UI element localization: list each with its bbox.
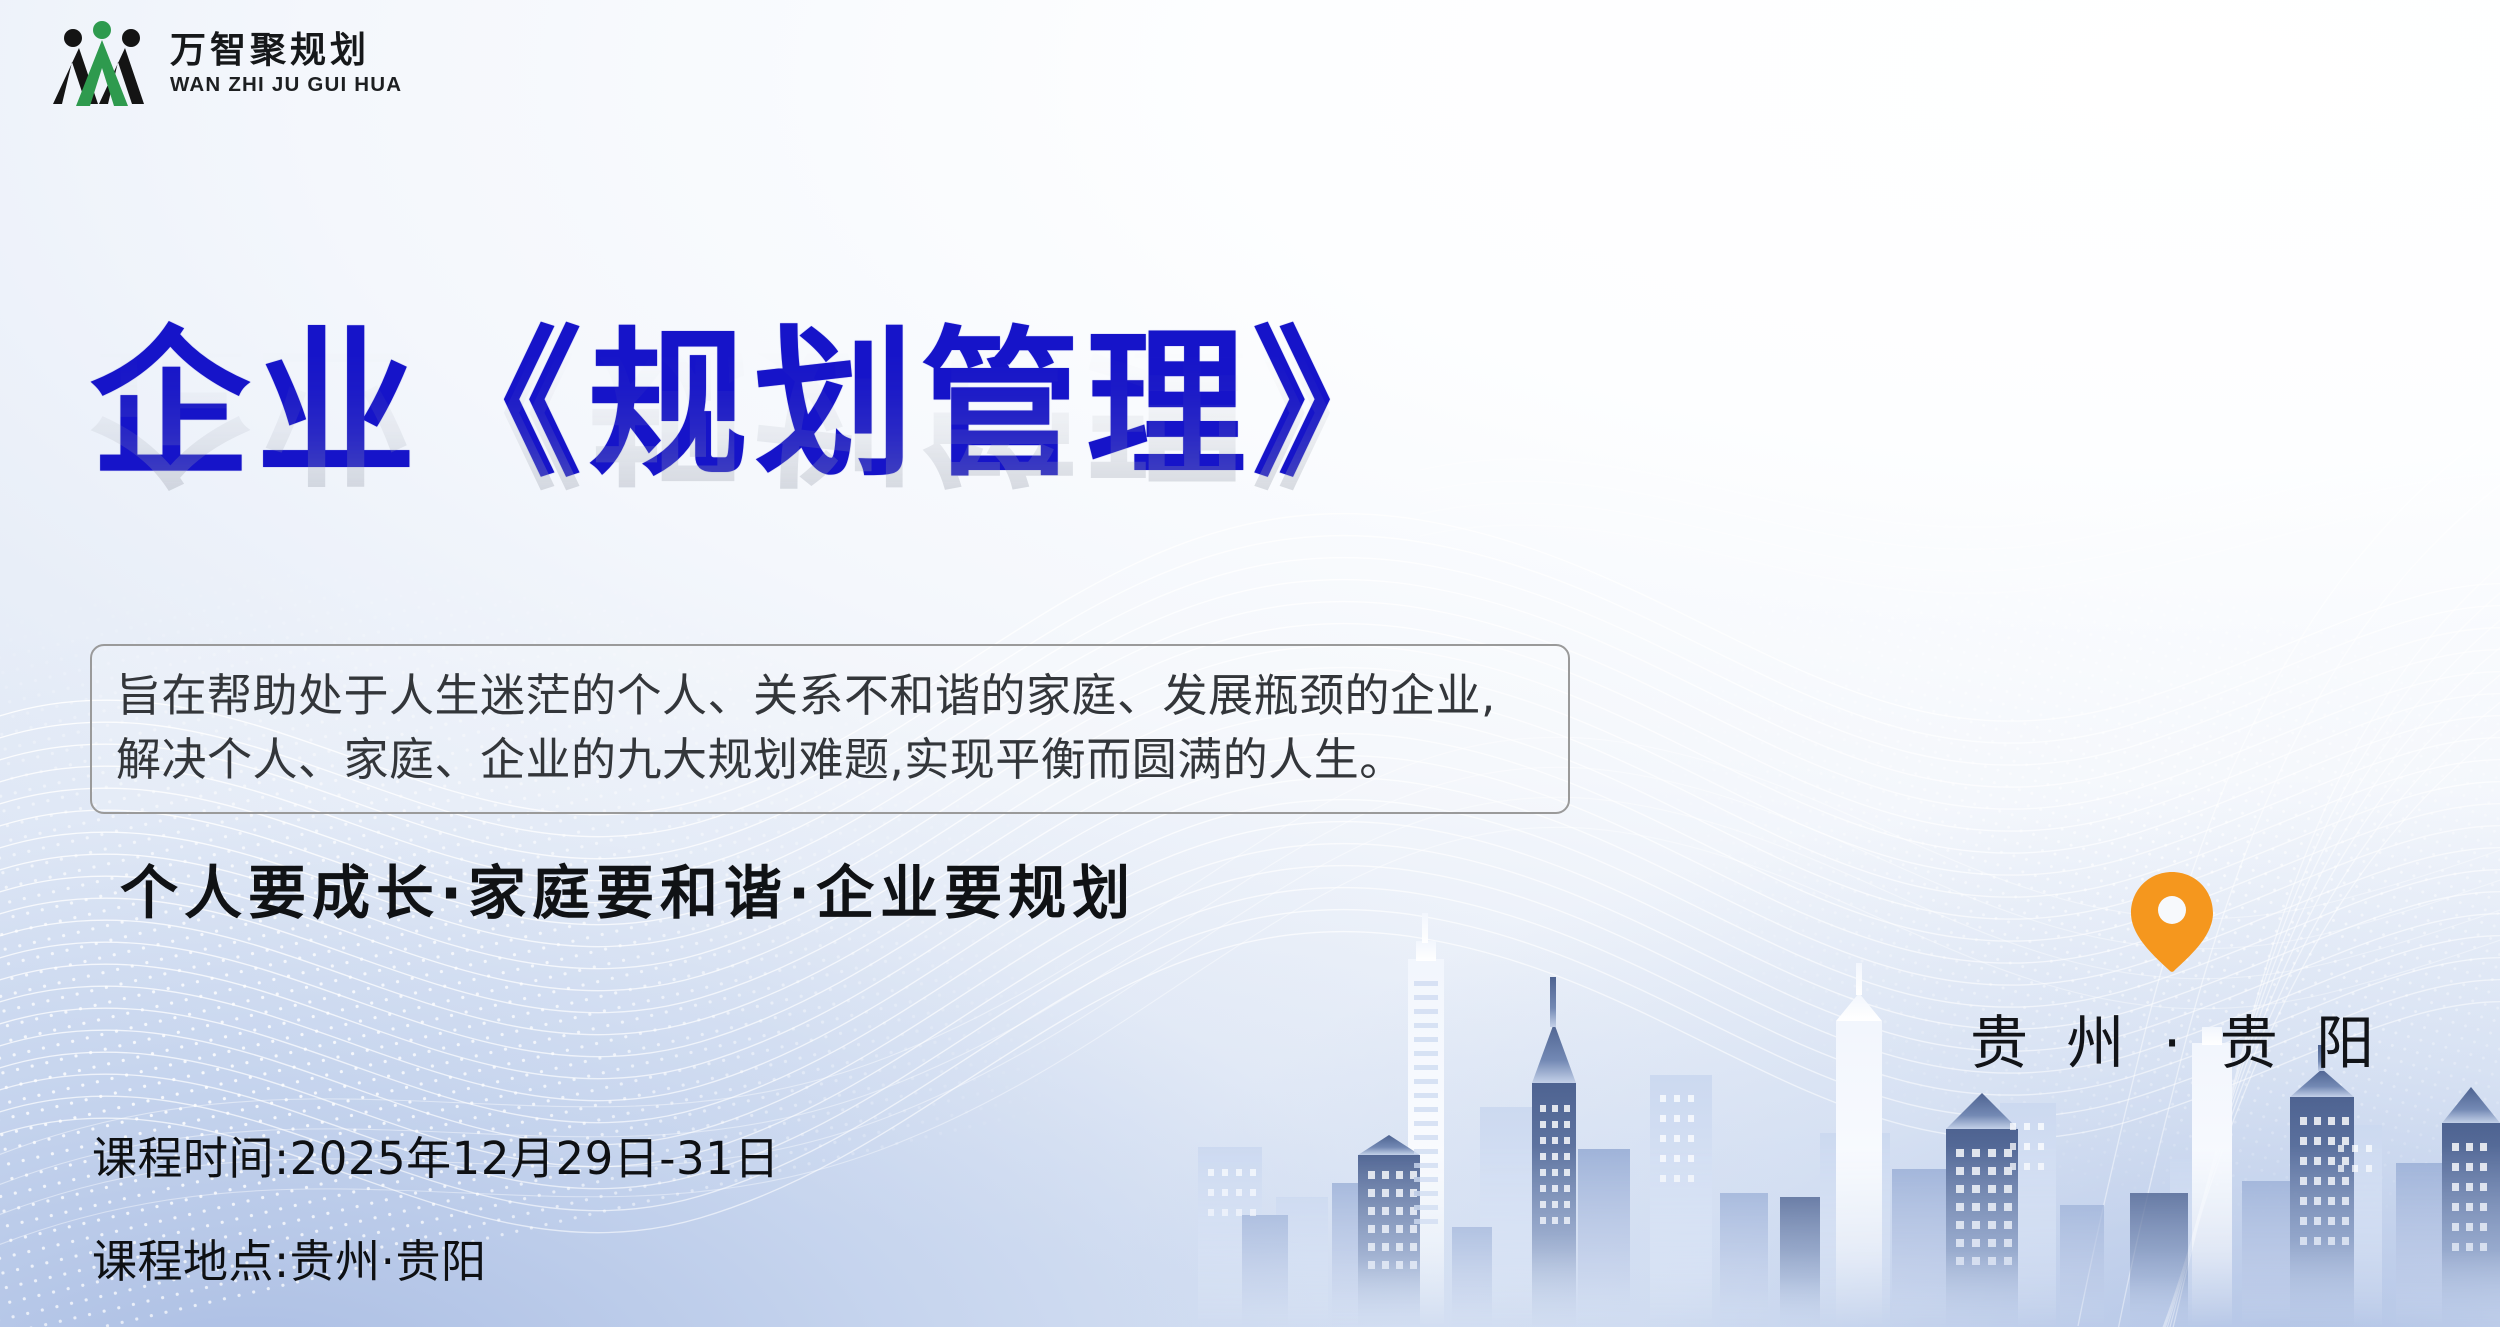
brand-name-en: WAN ZHI JU GUI HUA	[170, 75, 402, 96]
course-meta: 课程时间:2025年12月29日-31日 课程地点:贵州·贵阳	[92, 1122, 780, 1290]
brand-name-cn: 万智聚规划	[170, 32, 402, 68]
description-line-2: 解决个人、家庭、企业的九大规划难题,实现平衡而圆满的人生。	[116, 728, 1542, 792]
description-line-1: 旨在帮助处于人生迷茫的个人、关系不和谐的家庭、发展瓶颈的企业,	[116, 664, 1542, 728]
three-people-logo-icon	[48, 18, 156, 110]
course-time: 课程时间:2025年12月29日-31日	[92, 1122, 780, 1187]
course-place: 课程地点:贵州·贵阳	[92, 1225, 780, 1290]
location-block: 贵 州 · 贵 阳	[1960, 870, 2384, 1080]
hero-title-block: 企业《规划管理》 企业《规划管理》	[90, 320, 1418, 661]
description-box: 旨在帮助处于人生迷茫的个人、关系不和谐的家庭、发展瓶颈的企业, 解决个人、家庭、…	[90, 644, 1570, 814]
brand-logo[interactable]: 万智聚规划 WAN ZHI JU GUI HUA	[48, 18, 402, 110]
poster-canvas: 万智聚规划 WAN ZHI JU GUI HUA 企业《规划管理》 企业《规划管…	[0, 0, 2500, 1327]
page-title: 企业《规划管理》	[90, 320, 1418, 490]
tagline: 个人要成长·家庭要和谐·企业要规划	[120, 846, 1136, 930]
location-text: 贵 州 · 贵 阳	[1960, 996, 2384, 1080]
map-pin-icon	[2129, 870, 2215, 974]
